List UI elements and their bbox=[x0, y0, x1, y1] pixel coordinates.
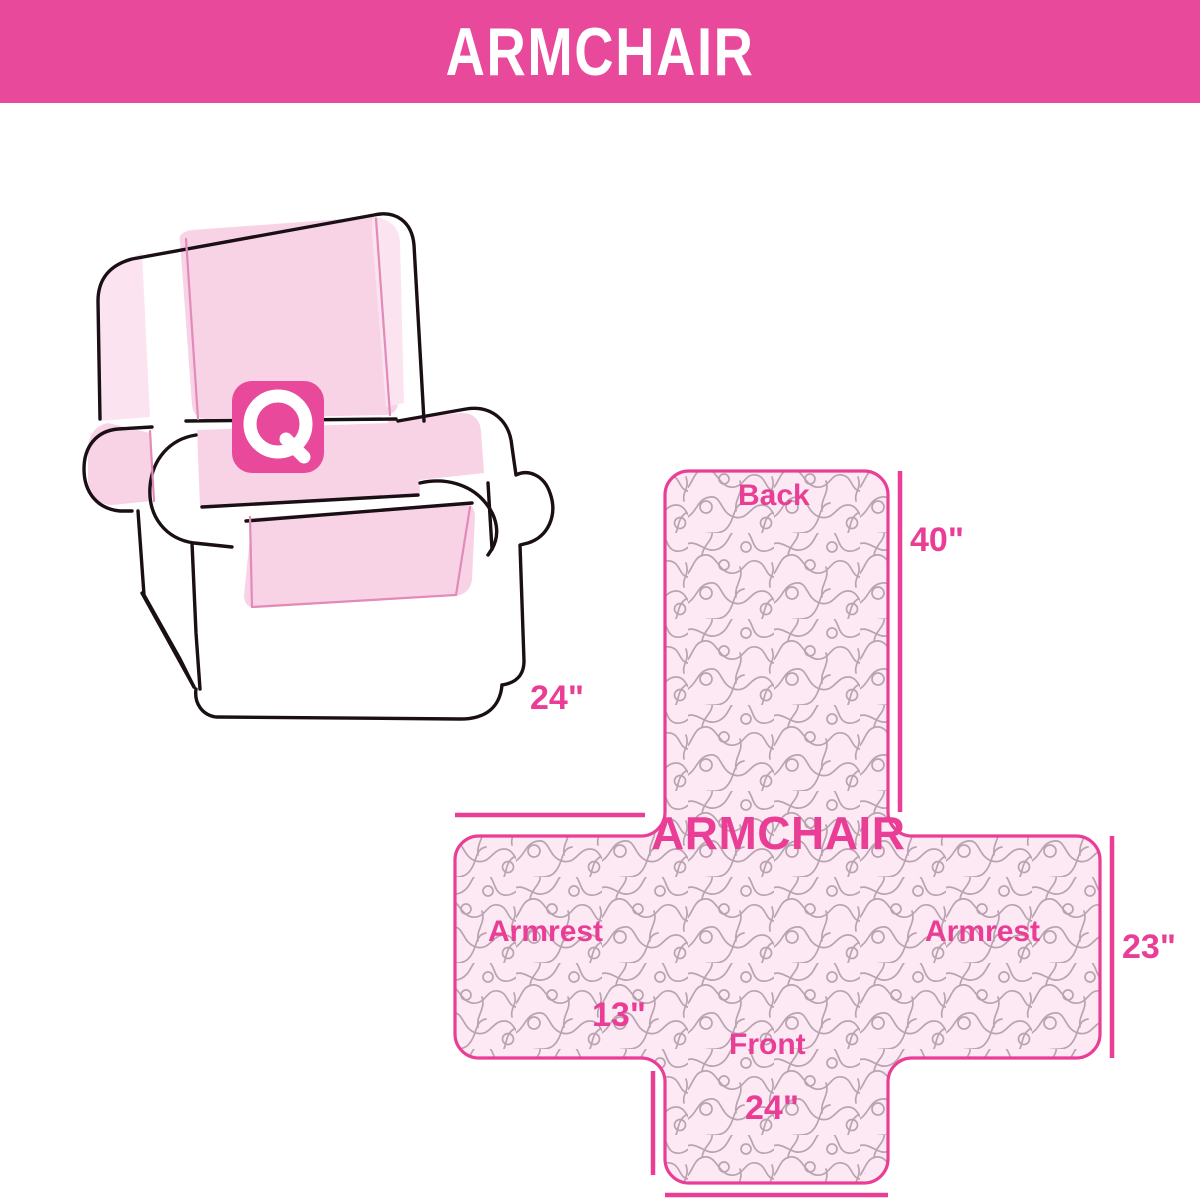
diagram-stage: Back ARMCHAIR Armrest Armrest Front 40" … bbox=[0, 103, 1200, 1200]
diagram-center-label: ARMCHAIR bbox=[651, 810, 905, 856]
page-title: ARMCHAIR bbox=[446, 18, 755, 86]
panel-label-back: Back bbox=[738, 481, 810, 511]
diagram-svg bbox=[0, 103, 1200, 1200]
q-logo-badge bbox=[232, 381, 324, 473]
panel-label-armrest-right: Armrest bbox=[925, 917, 1040, 947]
chair-right-arm-seam bbox=[488, 483, 492, 549]
dimension-front-width: 24" bbox=[745, 1091, 799, 1125]
chair-base-left bbox=[142, 593, 194, 687]
dimension-back-height: 40" bbox=[910, 523, 964, 557]
page-root: ARMCHAIR bbox=[0, 0, 1200, 1200]
panel-label-armrest-left: Armrest bbox=[488, 917, 603, 947]
dimension-body-height: 23" bbox=[1122, 930, 1176, 964]
chair-back-left-shoulder bbox=[98, 253, 150, 421]
header-banner: ARMCHAIR bbox=[0, 0, 1200, 103]
chair-left-arm-face-inner bbox=[192, 543, 200, 689]
chair-right-arm-fill bbox=[388, 413, 484, 483]
chair-base-outline bbox=[196, 685, 502, 719]
dimension-armrest-width: 24" bbox=[530, 681, 584, 715]
panel-label-front: Front bbox=[729, 1030, 806, 1060]
dimension-front-height: 13" bbox=[592, 998, 646, 1032]
armchair-illustration bbox=[84, 214, 553, 719]
